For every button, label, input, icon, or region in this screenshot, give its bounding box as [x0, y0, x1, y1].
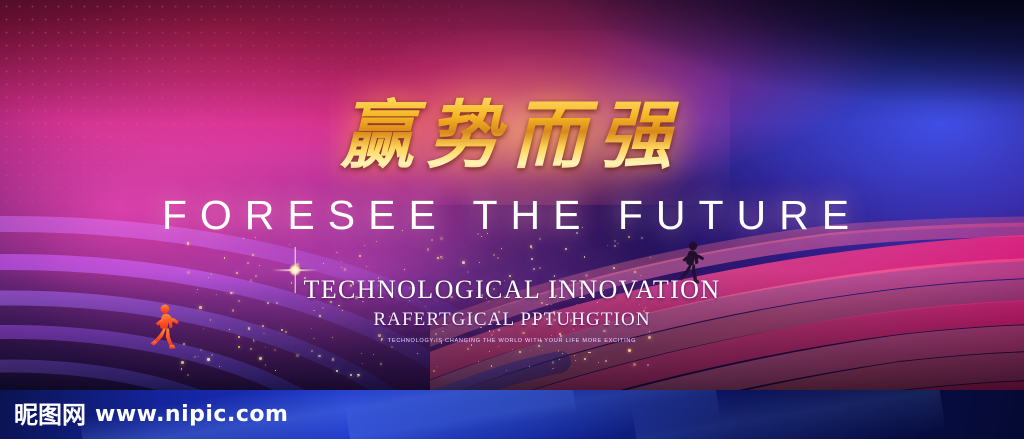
sparkle-particle — [311, 350, 314, 353]
sparkle-particle — [530, 350, 531, 351]
sparkle-particle — [200, 349, 202, 351]
sparkle-particle — [498, 346, 499, 347]
sparkle-particle — [489, 351, 490, 352]
subtitle-secondary-line: RAFERTGICAL PPTUHGTION — [0, 309, 1024, 331]
sparkle-particle — [442, 258, 443, 259]
sparkle-particle — [318, 355, 321, 358]
sparkle-particle — [341, 267, 342, 268]
watermark-site-url[interactable]: www.nipic.com — [95, 404, 288, 426]
sparkle-particle — [531, 247, 533, 249]
sparkle-particle — [361, 353, 362, 354]
sparkle-particle — [442, 256, 443, 257]
sparkle-particle — [529, 366, 531, 368]
sparkle-particle — [274, 349, 276, 351]
sparkle-particle — [198, 356, 199, 357]
sparkle-particle — [614, 240, 616, 242]
sparkle-particle — [417, 353, 418, 354]
sparkle-particle — [614, 245, 616, 247]
sparkle-particle — [181, 368, 183, 370]
sparkle-particle — [275, 370, 276, 371]
sparkle-particle — [575, 360, 576, 361]
sparkle-particle — [497, 257, 499, 259]
sparkle-particle — [259, 357, 261, 359]
sparkle-particle — [431, 239, 433, 241]
sparkle-particle — [479, 262, 480, 263]
sparkle-particle — [359, 255, 361, 257]
calligraphy-title-block: 赢势而强 — [0, 76, 1024, 183]
sparkle-particle — [552, 361, 555, 364]
sparkle-particle — [650, 257, 651, 258]
sparkle-particle — [633, 363, 636, 366]
sparkle-particle — [478, 361, 479, 362]
sparkle-particle — [376, 241, 377, 242]
sparkle-particle — [427, 248, 430, 251]
sparkle-particle — [366, 266, 367, 267]
sparkle-particle — [506, 370, 507, 371]
sparkle-particle — [574, 355, 575, 356]
sparkle-particle — [323, 263, 324, 264]
subtitle-technological-innovation: TECHNOLOGICAL INNOVATION — [0, 275, 1024, 305]
sparkle-particle — [467, 348, 469, 350]
sparkle-particle — [207, 358, 210, 361]
sparkle-particle — [647, 364, 649, 366]
sparkle-particle — [194, 356, 197, 359]
poster-canvas: 赢势而强 FORESEE THE FUTURE TECHNOLOGICAL IN… — [0, 0, 1024, 439]
sparkle-particle — [364, 245, 365, 246]
sparkle-particle — [265, 364, 267, 366]
subtitle-fine-print: TECHNOLOGY IS CHANGING THE WORLD WITH YO… — [0, 338, 1024, 344]
sparkle-particle — [552, 368, 554, 370]
sparkle-particle — [187, 374, 189, 376]
sparkle-particle — [344, 268, 346, 270]
sparkle-particle — [391, 346, 393, 348]
sparkle-particle — [219, 366, 220, 367]
sparkle-particle — [565, 248, 567, 250]
sparkle-particle — [187, 242, 189, 244]
sparkle-particle — [613, 267, 615, 269]
sparkle-particle — [362, 363, 363, 364]
sparkle-particle — [562, 353, 563, 354]
watermark-site-name-cn[interactable]: 昵图网 — [14, 403, 86, 427]
sparkle-particle — [404, 269, 405, 270]
sparkle-particle — [437, 366, 438, 367]
sparkle-particle — [634, 271, 636, 273]
sparkle-particle — [259, 265, 261, 267]
sparkle-particle — [584, 358, 586, 360]
sparkle-particle — [211, 354, 213, 356]
calligraphy-title-cn: 赢势而强 — [334, 76, 690, 183]
sparkle-particle — [542, 350, 543, 351]
sparkle-particle — [531, 258, 534, 261]
sparkle-particle — [491, 365, 493, 367]
sparkle-particle — [628, 349, 630, 351]
sparkle-particle — [224, 257, 226, 259]
sparkle-particle — [265, 347, 266, 348]
sparkle-particle — [332, 358, 335, 361]
sparkle-particle — [296, 354, 299, 357]
sparkle-particle — [247, 262, 249, 264]
sparkle-particle — [598, 362, 599, 363]
sparkle-particle — [252, 254, 254, 256]
headline-foresee-the-future: FORESEE THE FUTURE — [0, 192, 1024, 239]
sparkle-particle — [617, 243, 618, 244]
watermark-bar: 昵图网 www.nipic.com — [0, 390, 1024, 439]
sparkle-particle — [519, 351, 521, 353]
sparkle-particle — [341, 261, 342, 262]
sparkle-particle — [437, 257, 439, 259]
sparkle-particle — [380, 363, 382, 365]
sparkle-particle — [471, 344, 473, 346]
sparkle-particle — [462, 261, 465, 264]
sparkle-particle — [584, 256, 586, 258]
sparkle-particle — [493, 254, 495, 256]
sparkle-particle — [559, 359, 560, 360]
sparkle-particle — [467, 271, 469, 273]
sparkle-particle — [512, 349, 513, 350]
sparkle-particle — [238, 346, 240, 348]
sparkle-particle — [336, 252, 337, 253]
sparkle-particle — [187, 271, 190, 274]
sparkle-particle — [336, 370, 338, 372]
sparkle-particle — [501, 248, 502, 249]
subtitle-block: TECHNOLOGICAL INNOVATION RAFERTGICAL PPT… — [0, 275, 1024, 344]
sparkle-particle — [558, 350, 560, 352]
sparkle-particle — [289, 244, 290, 245]
sparkle-particle — [433, 370, 435, 372]
sparkle-particle — [589, 352, 591, 354]
sparkle-particle — [236, 272, 238, 274]
sparkle-particle — [605, 360, 607, 362]
sparkle-particle — [538, 345, 540, 347]
sparkle-particle — [539, 267, 541, 269]
sparkle-particle — [250, 348, 252, 350]
sparkle-particle — [533, 268, 535, 270]
sparkle-particle — [607, 245, 608, 246]
sparkle-particle — [181, 361, 184, 364]
sparkle-particle — [373, 354, 375, 356]
